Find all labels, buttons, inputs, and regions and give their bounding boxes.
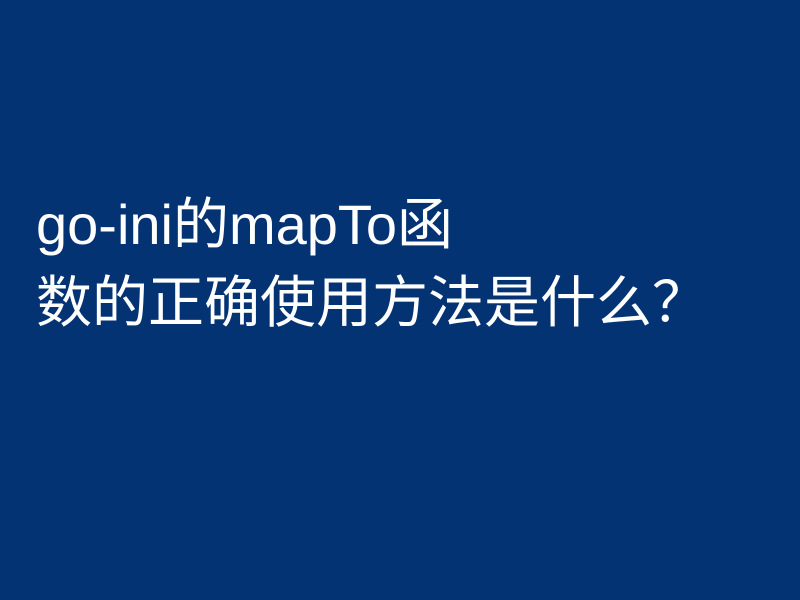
page-title-line-1: go-ini的mapTo函 — [36, 186, 766, 264]
banner-card: go-ini的mapTo函 数的正确使用方法是什么？ — [0, 0, 800, 600]
page-title-line-2: 数的正确使用方法是什么？ — [36, 264, 766, 342]
page-title: go-ini的mapTo函 数的正确使用方法是什么？ — [36, 186, 766, 342]
